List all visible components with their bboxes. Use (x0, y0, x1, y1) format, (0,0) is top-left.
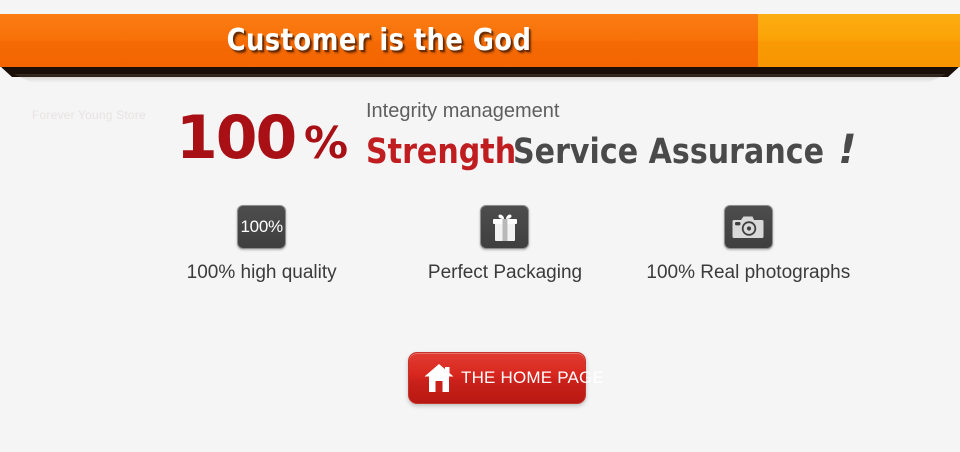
home-icon (423, 363, 455, 393)
camera-glyph (732, 214, 764, 240)
home-page-label: THE HOME PAGE (461, 368, 604, 388)
banner-shadow-soft (0, 74, 960, 83)
headline-service-text: Service Assurance (513, 135, 824, 170)
headline-strength-text: Strength (366, 135, 516, 170)
feature-caption-photographs: 100% Real photographs (646, 262, 850, 284)
gift-box-glyph (491, 212, 519, 242)
headline-block: 100 % Integrity management Strength Serv… (176, 96, 936, 174)
banner-title: Customer is the God (53, 14, 705, 67)
feature-item-photographs: 100% Real photographs (627, 205, 870, 284)
headline-percent: % (304, 122, 348, 166)
headline-integrity-text: Integrity management (366, 100, 559, 123)
feature-item-quality: 100% 100% high quality (140, 205, 383, 284)
home-page-button[interactable]: THE HOME PAGE (408, 352, 586, 404)
gift-box-icon (480, 205, 529, 249)
feature-row: 100% 100% high quality Perfect Packaging (140, 205, 870, 284)
feature-caption-quality: 100% high quality (187, 262, 337, 284)
camera-icon (724, 205, 773, 249)
headline-number: 100 (176, 108, 295, 168)
percent-badge-label: 100% (241, 217, 283, 237)
feature-item-packaging: Perfect Packaging (383, 205, 626, 284)
feature-caption-packaging: Perfect Packaging (428, 262, 582, 284)
store-watermark: Forever Young Store (32, 108, 146, 122)
top-banner: Customer is the God (0, 14, 960, 80)
percent-badge-icon: 100% (237, 205, 286, 249)
headline-second-row: Strength Service Assurance ! (366, 130, 856, 170)
promo-banner-page: Customer is the God Forever Young Store … (0, 0, 960, 452)
headline-exclamation: ! (838, 130, 856, 170)
